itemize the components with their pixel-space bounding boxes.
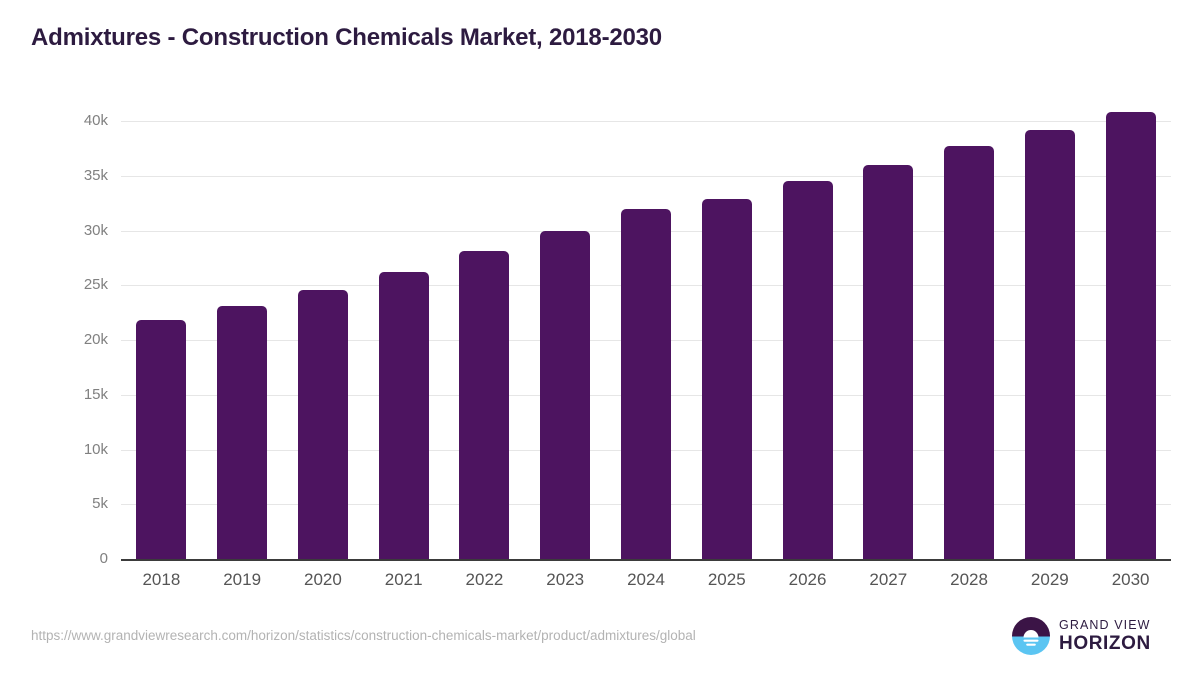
x-axis-tick-label: 2025 xyxy=(682,570,772,590)
bar[interactable] xyxy=(379,272,429,559)
bar[interactable] xyxy=(136,320,186,559)
y-axis-tick-label: 10k xyxy=(40,441,108,458)
bar[interactable] xyxy=(621,209,671,559)
x-axis-tick-label: 2029 xyxy=(1005,570,1095,590)
bar[interactable] xyxy=(783,181,833,559)
x-axis-tick-label: 2024 xyxy=(601,570,691,590)
bar[interactable] xyxy=(217,306,267,559)
x-axis-tick-label: 2027 xyxy=(843,570,933,590)
x-axis-tick-label: 2021 xyxy=(359,570,449,590)
chart-page: Admixtures - Construction Chemicals Mark… xyxy=(0,0,1200,675)
x-axis-tick-label: 2026 xyxy=(763,570,853,590)
bar[interactable] xyxy=(540,231,590,560)
bar[interactable] xyxy=(863,165,913,559)
bar[interactable] xyxy=(459,251,509,559)
y-axis-tick-label: 0 xyxy=(40,550,108,567)
x-axis-tick-label: 2018 xyxy=(116,570,206,590)
source-url[interactable]: https://www.grandviewresearch.com/horizo… xyxy=(31,628,696,643)
bar[interactable] xyxy=(1025,130,1075,559)
bars-layer xyxy=(121,121,1171,559)
y-axis-tick-label: 40k xyxy=(40,112,108,129)
x-axis-line xyxy=(121,559,1171,561)
bar[interactable] xyxy=(298,290,348,559)
y-axis-tick-label: 35k xyxy=(40,167,108,184)
horizon-sun-icon xyxy=(1012,617,1050,655)
page-title: Admixtures - Construction Chemicals Mark… xyxy=(31,24,662,52)
y-axis-tick-label: 15k xyxy=(40,386,108,403)
x-axis-tick-label: 2019 xyxy=(197,570,287,590)
logo-text: GRAND VIEW HORIZON xyxy=(1059,619,1151,654)
bar[interactable] xyxy=(944,146,994,559)
bar[interactable] xyxy=(702,199,752,559)
logo-line-horizon: HORIZON xyxy=(1059,634,1151,653)
x-axis-tick-label: 2022 xyxy=(439,570,529,590)
x-axis-tick-label: 2028 xyxy=(924,570,1014,590)
y-axis-tick-label: 25k xyxy=(40,276,108,293)
x-axis-tick-label: 2030 xyxy=(1086,570,1176,590)
logo-line-grand-view: GRAND VIEW xyxy=(1059,619,1151,632)
y-axis-tick-label: 5k xyxy=(40,495,108,512)
y-axis-tick-label: 20k xyxy=(40,331,108,348)
grand-view-horizon-logo: GRAND VIEW HORIZON xyxy=(1012,617,1151,655)
y-axis-tick-label: 30k xyxy=(40,222,108,239)
x-axis-tick-label: 2020 xyxy=(278,570,368,590)
x-axis-tick-label: 2023 xyxy=(520,570,610,590)
bar[interactable] xyxy=(1106,112,1156,559)
